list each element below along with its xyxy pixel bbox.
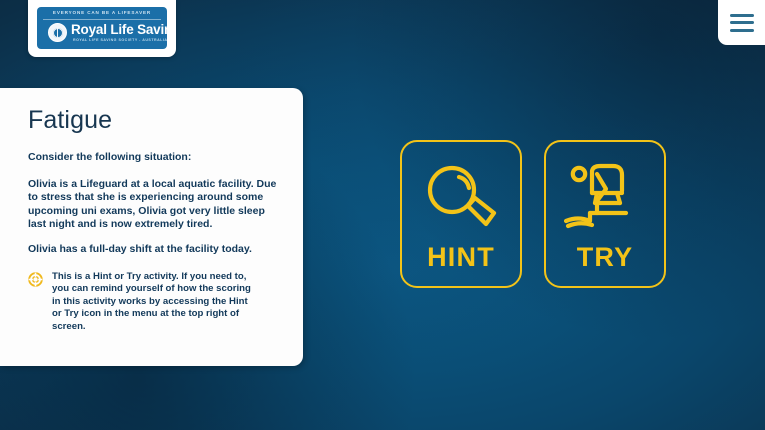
lifesaving-crest-icon <box>48 23 67 42</box>
scenario-lead: Consider the following situation: <box>28 151 281 165</box>
hint-button[interactable]: HINT <box>400 140 522 288</box>
try-button[interactable]: TRY <box>544 140 666 288</box>
logo-badge: EVERYONE CAN BE A LIFESAVER Royal Life S… <box>37 7 167 49</box>
magnifying-glass-icon <box>422 158 500 238</box>
page-title: Fatigue <box>28 108 281 133</box>
scenario-paragraph: Olivia is a Lifeguard at a local aquatic… <box>28 178 281 232</box>
hint-try-callout: This is a Hint or Try activity. If you n… <box>28 271 281 334</box>
scenario-card: Fatigue Consider the following situation… <box>0 88 303 366</box>
hamburger-bar <box>730 29 754 32</box>
menu-button[interactable] <box>718 0 765 45</box>
try-button-label: TRY <box>577 244 634 271</box>
callout-text: This is a Hint or Try activity. If you n… <box>52 271 257 334</box>
logo-divider <box>43 19 161 20</box>
scenario-paragraph: Olivia has a full-day shift at the facil… <box>28 243 281 257</box>
hamburger-menu-icon[interactable] <box>730 14 754 32</box>
brand-logo: EVERYONE CAN BE A LIFESAVER Royal Life S… <box>28 0 176 57</box>
logo-subtitle: ROYAL LIFE SAVING SOCIETY - AUSTRALIA <box>73 38 167 42</box>
lifebuoy-icon <box>28 272 43 287</box>
hint-button-label: HINT <box>427 244 495 271</box>
activity-screen: EVERYONE CAN BE A LIFESAVER Royal Life S… <box>0 0 765 430</box>
hint-try-choices: HINT <box>400 140 666 288</box>
hamburger-bar <box>730 21 754 24</box>
hamburger-bar <box>730 14 754 17</box>
rescue-cpr-icon <box>564 158 646 238</box>
logo-name: Royal Life Saving <box>71 22 167 37</box>
logo-tagline: EVERYONE CAN BE A LIFESAVER <box>37 10 167 15</box>
